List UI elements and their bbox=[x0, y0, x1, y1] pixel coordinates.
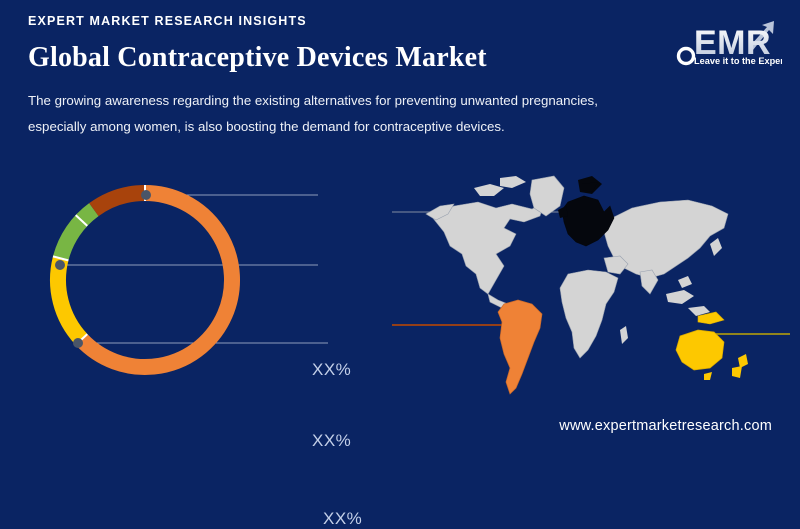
donut-segment-1[interactable] bbox=[82, 193, 232, 367]
region-arctic-islands bbox=[474, 184, 504, 196]
donut-segment-4[interactable] bbox=[94, 193, 145, 210]
subtitle-line-1: The growing awareness regarding the exis… bbox=[28, 93, 598, 108]
insight-slide: EXPERT MARKET RESEARCH INSIGHTS Global C… bbox=[0, 0, 800, 450]
page-title: Global Contraceptive Devices Market bbox=[28, 42, 487, 74]
donut-chart-svg bbox=[28, 165, 378, 390]
donut-chart: XX% XX% XX% bbox=[28, 165, 378, 390]
eyebrow-label: EXPERT MARKET RESEARCH INSIGHTS bbox=[28, 14, 307, 28]
region-australia[interactable] bbox=[676, 330, 724, 370]
region-tasmania bbox=[704, 372, 712, 380]
region-southeast-asia[interactable] bbox=[666, 290, 694, 304]
region-new-zealand-south[interactable] bbox=[732, 366, 742, 378]
emr-logo[interactable]: EMR Leave it to the Experts! bbox=[664, 12, 782, 72]
percent-label-3: XX% bbox=[323, 509, 362, 529]
callout-dot-1[interactable] bbox=[141, 190, 151, 200]
region-africa[interactable] bbox=[560, 270, 618, 358]
region-madagascar bbox=[620, 326, 628, 344]
region-arctic-islands-2 bbox=[500, 176, 526, 188]
world-map bbox=[392, 162, 790, 402]
logo-tagline: Leave it to the Experts! bbox=[694, 56, 782, 66]
subtitle-line-2: especially among women, is also boosting… bbox=[28, 114, 748, 140]
region-philippines bbox=[678, 276, 692, 288]
donut-segment-2[interactable] bbox=[58, 258, 82, 339]
ring-icon bbox=[679, 49, 694, 64]
percent-label-2: XX% bbox=[312, 431, 351, 451]
page-subtitle: The growing awareness regarding the exis… bbox=[28, 88, 748, 140]
callout-dot-3[interactable] bbox=[73, 338, 83, 348]
region-north-america[interactable] bbox=[432, 202, 544, 294]
map-land-group bbox=[426, 176, 748, 394]
percent-label-1: XX% bbox=[312, 360, 351, 380]
region-new-zealand-north[interactable] bbox=[738, 354, 748, 368]
region-japan bbox=[710, 238, 722, 256]
footer-website-url[interactable]: www.expertmarketresearch.com bbox=[559, 418, 772, 434]
region-south-america[interactable] bbox=[498, 300, 542, 394]
callout-dot-2[interactable] bbox=[55, 260, 65, 270]
